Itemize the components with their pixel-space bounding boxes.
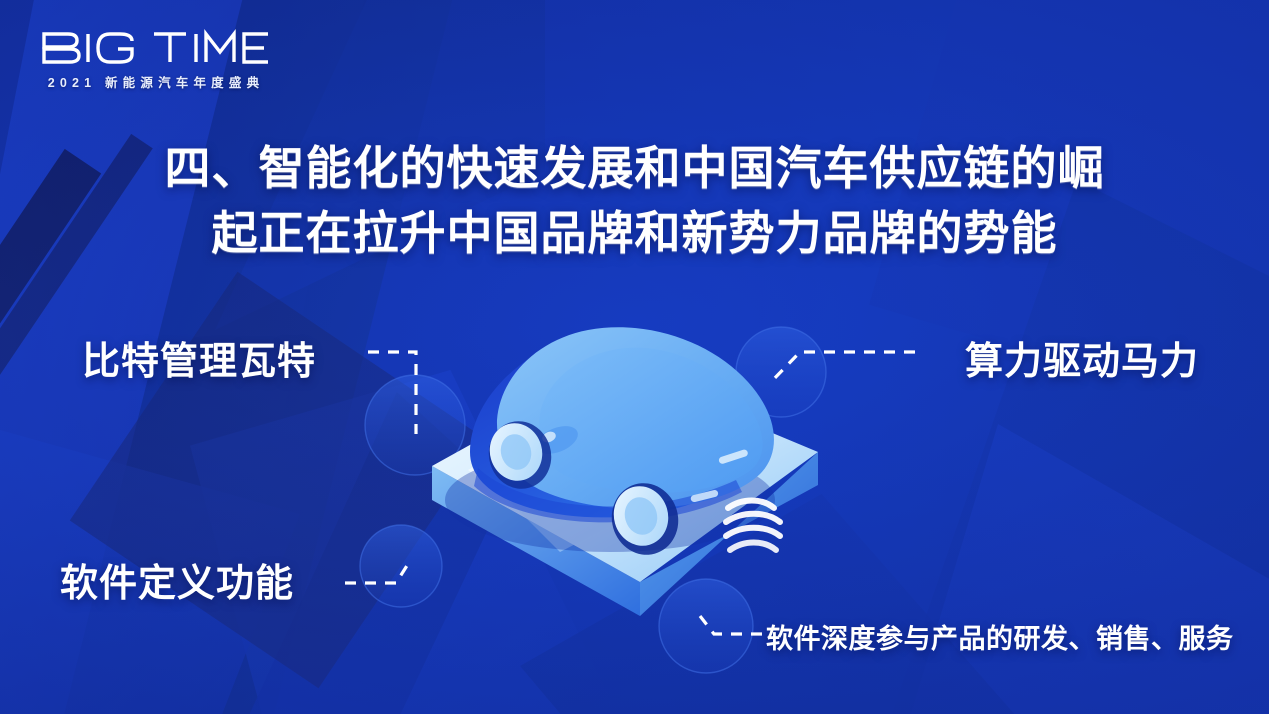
presentation-slide: 2021 新能源汽车年度盛典 四、智能化的快速发展和中国汽车供应链的崛 起正在拉… (0, 0, 1269, 714)
big-time-wordmark (40, 30, 272, 66)
callout-bit-manages-watt: 比特管理瓦特 (82, 330, 316, 385)
page-title-line-1: 四、智能化的快速发展和中国汽车供应链的崛 (0, 136, 1269, 201)
marker-bottom-left-circle (360, 525, 442, 607)
car-body (445, 327, 796, 562)
marker-bottom-right-circle (659, 579, 753, 673)
page-title-line-2: 起正在拉升中国品牌和新势力品牌的势能 (0, 201, 1269, 266)
callout-compute-drives-power: 算力驱动马力 (965, 330, 1199, 385)
callout-software-deep-involve: 软件深度参与产品的研发、销售、服务 (766, 617, 1234, 656)
callout-software-defines: 软件定义功能 (60, 552, 294, 607)
logo-subtitle: 2021 新能源汽车年度盛典 (40, 72, 272, 91)
page-title: 四、智能化的快速发展和中国汽车供应链的崛 起正在拉升中国品牌和新势力品牌的势能 (0, 136, 1269, 267)
event-logo: 2021 新能源汽车年度盛典 (40, 30, 272, 91)
